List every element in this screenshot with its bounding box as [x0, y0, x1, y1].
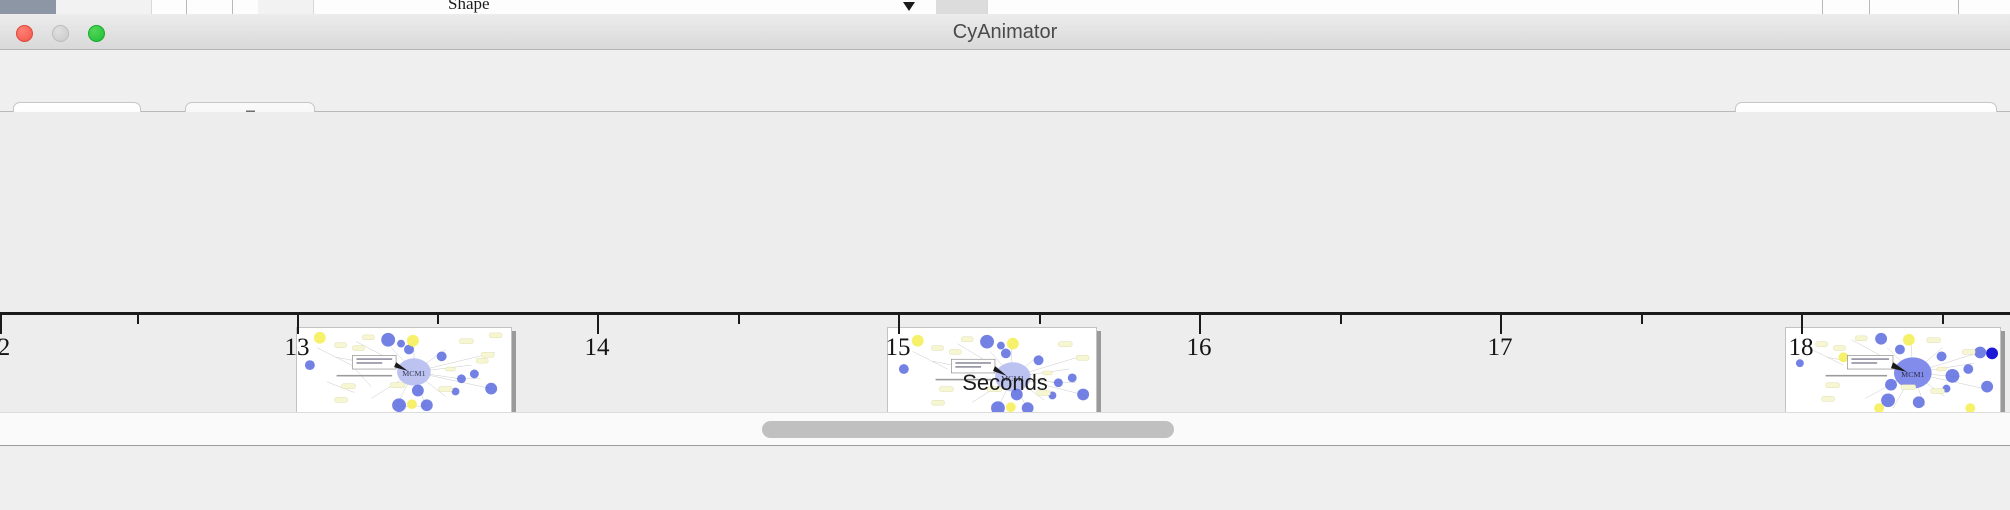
scrollbar-thumb[interactable]: [762, 421, 1174, 438]
axis-tick-label: 16: [1187, 334, 1212, 362]
window-title: CyAnimator: [0, 14, 2010, 50]
title-bar: CyAnimator: [0, 14, 2010, 50]
axis-tick-major: [1500, 312, 1502, 334]
background-divider: [1958, 0, 1959, 14]
axis-tick-label: 15: [886, 334, 911, 362]
axis-tick-minor: [1641, 312, 1643, 324]
toolbar: + Clear All Frames: [0, 50, 2010, 112]
axis-tick-label: 17: [1488, 334, 1513, 362]
timeline-axis: [0, 312, 2010, 315]
axis-tick-minor: [738, 312, 740, 324]
axis-title: Seconds: [0, 370, 2010, 396]
background-app-label: Shape: [448, 0, 490, 14]
background-window-titlebar: [0, 0, 56, 14]
timeline-panel[interactable]: MCM1: [0, 112, 2010, 412]
axis-tick-major: [597, 312, 599, 334]
axis-tick-major: [0, 312, 2, 334]
axis-tick-major: [297, 312, 299, 334]
cyanimator-window: Shape CyAnimator + Clear All Frames: [0, 0, 2010, 510]
axis-tick-major: [1801, 312, 1803, 334]
axis-tick-label: 13: [285, 334, 310, 362]
background-divider: [232, 0, 233, 14]
background-desktop-strip: Shape: [0, 0, 2010, 14]
axis-tick-minor: [1340, 312, 1342, 324]
axis-tick-label: 2: [0, 334, 10, 362]
axis-tick-label: 14: [585, 334, 610, 362]
background-panel: [258, 0, 314, 14]
background-panel: [56, 0, 152, 14]
background-divider: [1822, 0, 1823, 14]
axis-tick-label: 18: [1789, 334, 1814, 362]
axis-tick-minor: [437, 312, 439, 324]
background-caret-icon: [903, 2, 915, 11]
axis-tick-major: [1199, 312, 1201, 334]
axis-tick-minor: [1039, 312, 1041, 324]
playback-bar: Animation Speed:: [0, 446, 2010, 510]
axis-tick-minor: [1942, 312, 1944, 324]
background-divider: [186, 0, 187, 14]
horizontal-scrollbar[interactable]: [0, 412, 2010, 446]
background-divider: [1869, 0, 1870, 14]
axis-tick-minor: [137, 312, 139, 324]
axis-tick-major: [898, 312, 900, 334]
background-panel: [936, 0, 988, 14]
